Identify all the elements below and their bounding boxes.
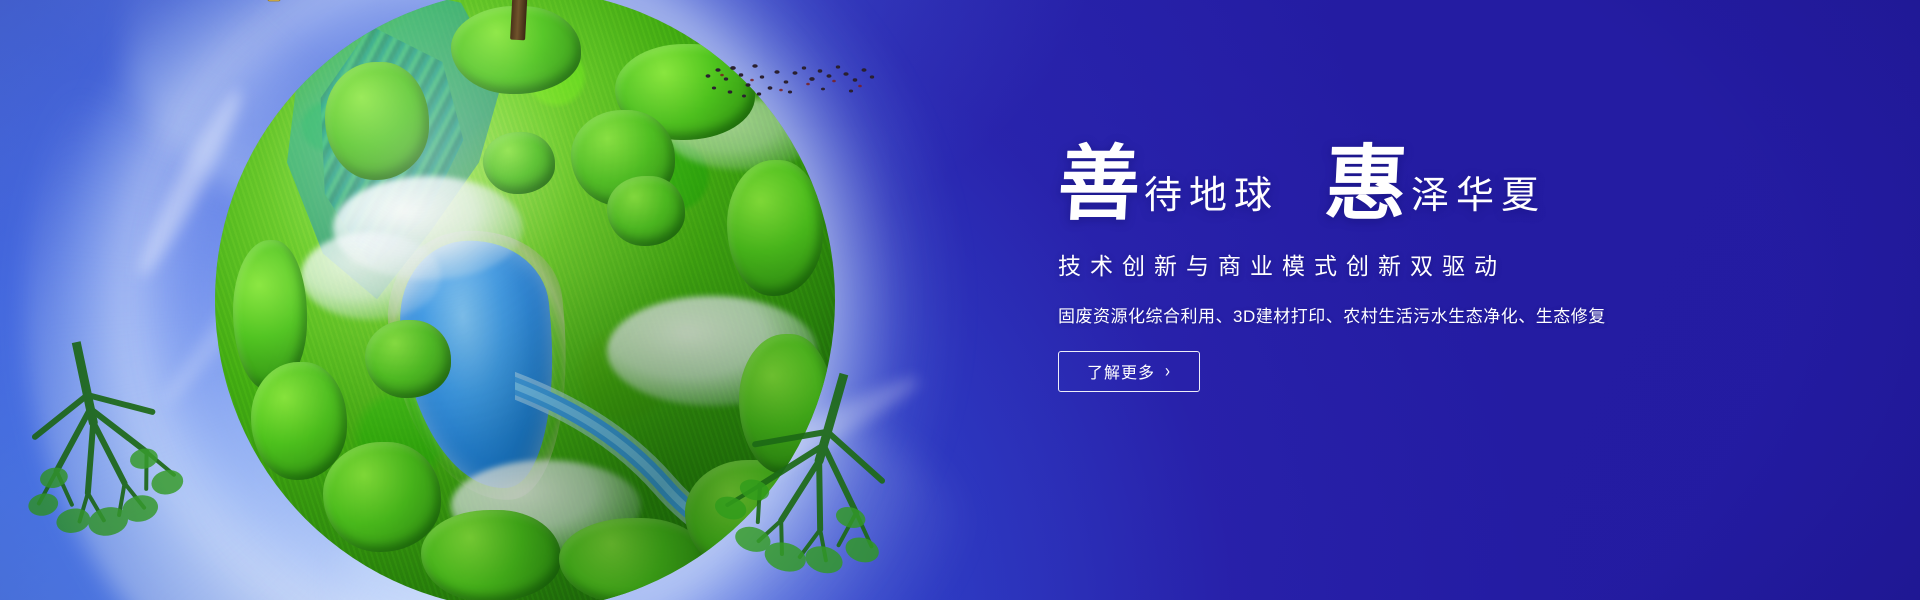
rim-foliage — [251, 362, 347, 480]
page-tagline: 固废资源化综合利用、3D建材打印、农村生活污水生态净化、生态修复 — [1058, 302, 1678, 327]
rim-foliage — [559, 518, 709, 600]
headline-group-two: 惠 泽华夏 — [1325, 150, 1546, 221]
headline-big-char-1: 善 — [1056, 150, 1142, 221]
headline-small-text-2: 泽华夏 — [1411, 177, 1546, 221]
headline-group-one: 善 待地球 — [1058, 150, 1279, 221]
hero-content: 善 待地球 惠 泽华夏 技术创新与商业模式创新双驱动 固废资源化综合利用、3D建… — [1058, 150, 1678, 392]
hero-banner: 善 待地球 惠 泽华夏 技术创新与商业模式创新双驱动 固废资源化综合利用、3D建… — [0, 0, 1920, 600]
rim-foliage — [323, 442, 441, 552]
rim-foliage — [727, 160, 823, 296]
rim-foliage — [421, 510, 561, 600]
chevron-right-icon: › — [1165, 362, 1171, 381]
page-title: 善 待地球 惠 泽华夏 — [1058, 150, 1678, 221]
bird-flock-icon — [700, 44, 880, 116]
bush — [483, 132, 555, 194]
page-subtitle: 技术创新与商业模式创新双驱动 — [1058, 247, 1678, 281]
hot-air-balloon-icon — [241, 0, 307, 6]
bush — [365, 320, 451, 398]
learn-more-label: 了解更多 — [1087, 359, 1155, 383]
bush — [607, 176, 685, 246]
learn-more-button[interactable]: 了解更多 › — [1058, 351, 1200, 392]
headline-small-text-1: 待地球 — [1144, 177, 1279, 221]
rim-foliage — [325, 62, 429, 180]
headline-big-char-2: 惠 — [1323, 150, 1409, 221]
